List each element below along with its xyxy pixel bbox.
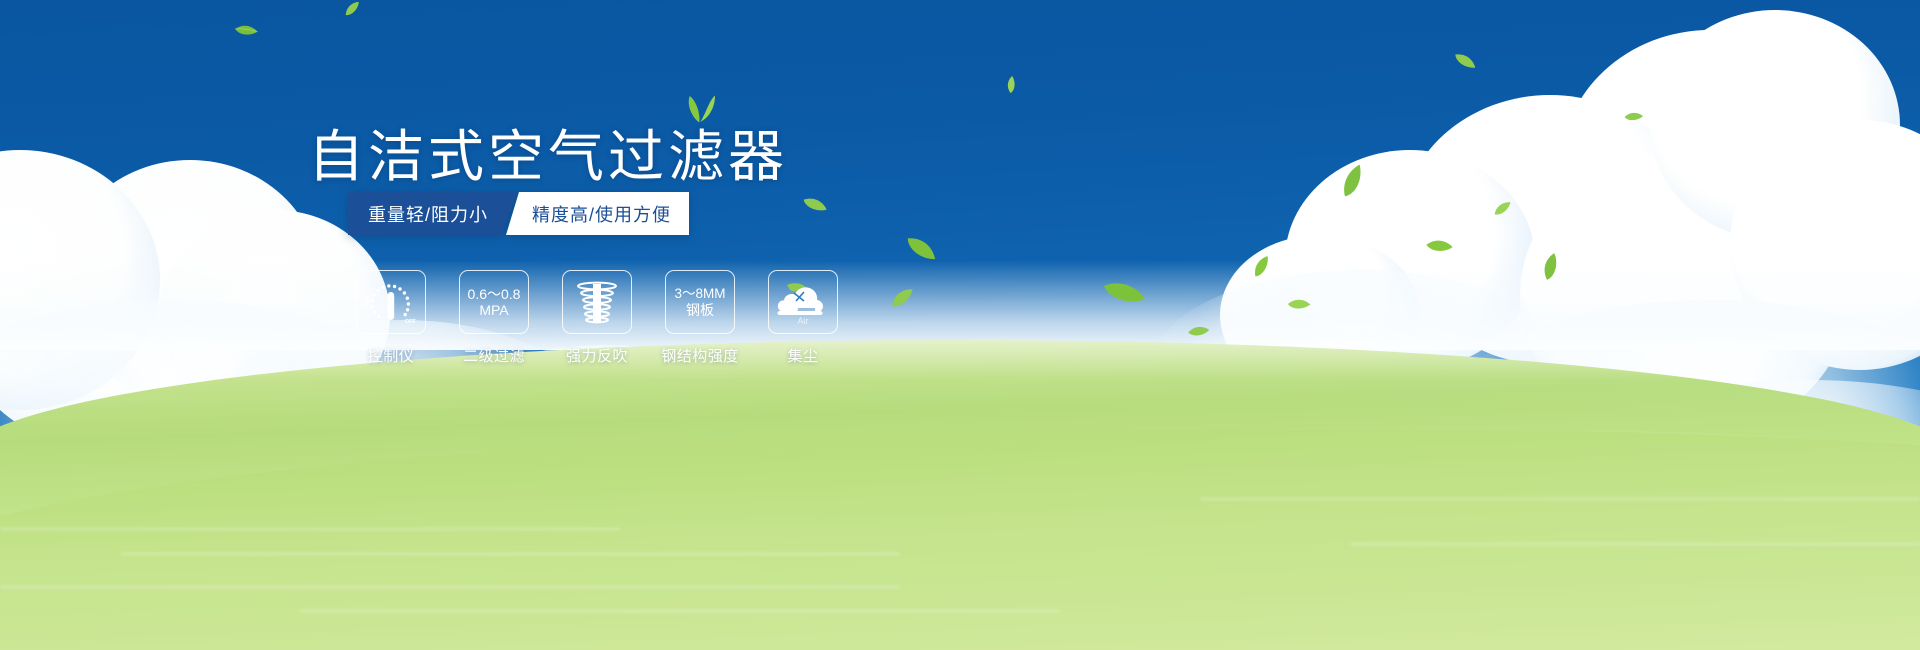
feature-icon-box: 0.6～0.8 MPA: [459, 270, 529, 334]
feature-caption: 集尘: [787, 345, 818, 366]
air-label: Air: [798, 316, 809, 326]
feature-strong-backblow[interactable]: 强力反吹: [562, 270, 632, 366]
feature-controller[interactable]: NO OFF 控制仪: [356, 270, 426, 366]
feature-dust-collection[interactable]: Air 集尘: [768, 270, 838, 366]
feature-icon-box: 3～8MM 钢板: [665, 270, 735, 334]
feature-icon-box: NO OFF: [356, 270, 426, 334]
banner-content: 自洁式空气过滤器 重量轻/阻力小 精度高/使用方便: [0, 0, 1920, 650]
coil-spring-icon: [572, 280, 622, 324]
tag-weight-resistance[interactable]: 重量轻/阻力小: [348, 192, 518, 235]
svg-text:OFF: OFF: [405, 319, 416, 325]
tag-precision-convenience[interactable]: 精度高/使用方便: [506, 192, 689, 235]
tag-group: 重量轻/阻力小 精度高/使用方便: [348, 192, 689, 235]
feature-icon-row: NO OFF 控制仪 0.6～0.8 MPA 二级过滤: [356, 270, 838, 366]
feature-caption: 强力反吹: [566, 345, 628, 366]
svg-text:NO: NO: [364, 296, 373, 307]
feature-two-stage-filter[interactable]: 0.6～0.8 MPA 二级过滤: [459, 270, 529, 366]
feature-steel-strength[interactable]: 3～8MM 钢板 钢结构强度: [665, 270, 735, 366]
feature-icon-box: Air: [768, 270, 838, 334]
hero-banner: 自洁式空气过滤器 重量轻/阻力小 精度高/使用方便: [0, 0, 1920, 650]
feature-caption: 二级过滤: [463, 345, 525, 366]
pressure-range-text: 0.6～0.8: [468, 286, 521, 302]
feature-icon-box: [562, 270, 632, 334]
steel-thickness-text: 3～8MM: [674, 286, 725, 302]
feature-caption: 钢结构强度: [661, 345, 739, 366]
feature-caption: 控制仪: [368, 345, 415, 366]
steel-plate-text: 钢板: [686, 302, 714, 318]
gauge-dial-icon: NO OFF: [364, 279, 418, 325]
cloud-air-icon: Air: [774, 279, 832, 325]
pressure-unit-text: MPA: [479, 302, 508, 318]
page-title: 自洁式空气过滤器: [0, 112, 1508, 193]
